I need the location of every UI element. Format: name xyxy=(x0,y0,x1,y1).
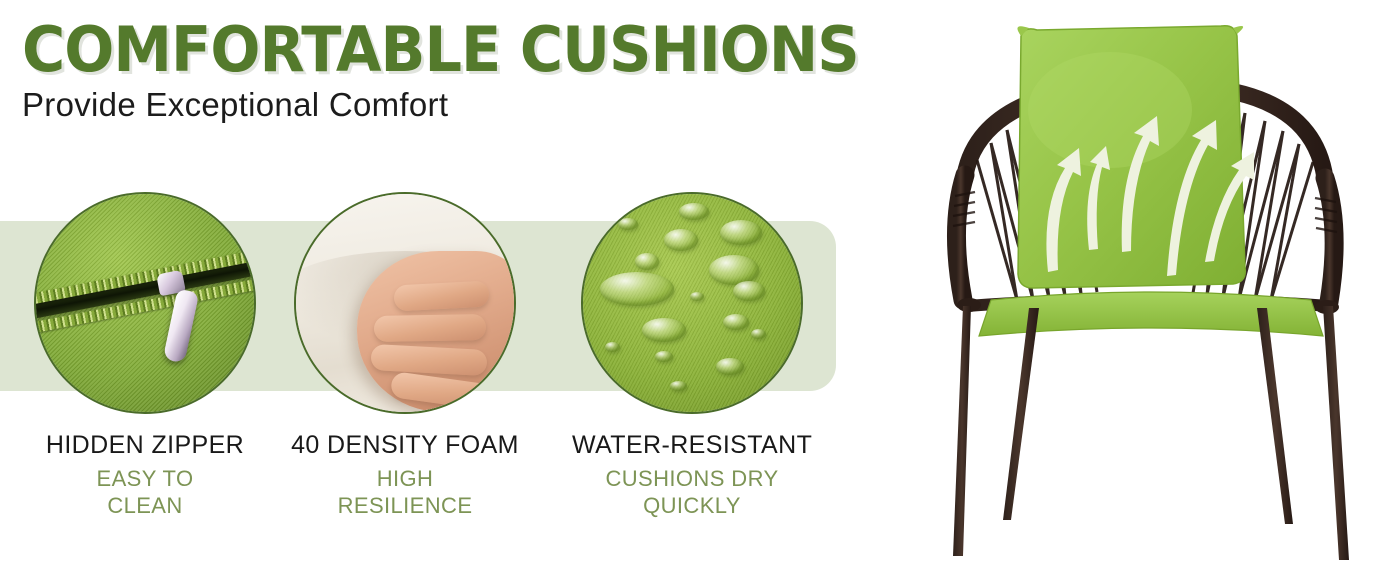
chair-leg-back-right xyxy=(1257,308,1293,524)
finger xyxy=(394,280,490,311)
product-image-chair xyxy=(905,0,1400,574)
feature-water-resistant: WATER-RESISTANT CUSHIONS DRY QUICKLY xyxy=(572,192,812,519)
feature-title: HIDDEN ZIPPER xyxy=(25,430,265,460)
water-droplet xyxy=(618,218,638,230)
chair-armrest-right xyxy=(1325,178,1334,302)
feature-subtitle-line2: QUICKLY xyxy=(572,492,812,519)
zipper-closeup-image xyxy=(34,192,256,414)
chair-leg-front-right xyxy=(1323,306,1349,560)
water-droplet xyxy=(690,292,704,301)
product-feature-banner: COMFORTABLE CUSHIONS Provide Exceptional… xyxy=(0,0,1400,574)
feature-subtitle-line2: CLEAN xyxy=(25,492,265,519)
feature-density-foam: 40 DENSITY FOAM HIGH RESILIENCE xyxy=(285,192,525,519)
feature-subtitle: EASY TO CLEAN xyxy=(25,465,265,519)
water-droplet xyxy=(655,351,673,362)
water-droplets-image xyxy=(581,192,803,414)
hand-pressing-foam-image xyxy=(294,192,516,414)
water-droplet xyxy=(679,203,709,220)
feature-subtitle-line1: HIGH xyxy=(285,465,525,492)
feature-subtitle-line1: CUSHIONS DRY xyxy=(572,465,812,492)
feature-hidden-zipper: HIDDEN ZIPPER EASY TO CLEAN xyxy=(25,192,265,519)
hand-shape xyxy=(357,251,516,412)
feature-subtitle: HIGH RESILIENCE xyxy=(285,465,525,519)
feature-subtitle-line1: EASY TO xyxy=(25,465,265,492)
feature-subtitle: CUSHIONS DRY QUICKLY xyxy=(572,465,812,519)
water-droplet xyxy=(716,358,744,375)
finger xyxy=(370,344,487,376)
feature-subtitle-line2: RESILIENCE xyxy=(285,492,525,519)
water-droplet xyxy=(664,229,698,251)
page-title: COMFORTABLE CUSHIONS xyxy=(22,18,859,82)
water-droplet xyxy=(635,253,659,270)
chair-leg-front-left xyxy=(953,306,971,556)
water-droplet xyxy=(751,329,766,339)
cushion-highlight xyxy=(1028,52,1192,168)
finger xyxy=(374,314,487,342)
water-droplet xyxy=(642,318,686,342)
feature-title: WATER-RESISTANT xyxy=(572,430,812,460)
feature-title: 40 DENSITY FOAM xyxy=(285,430,525,460)
page-subtitle: Provide Exceptional Comfort xyxy=(22,86,448,124)
water-droplet xyxy=(723,314,749,330)
chair-leg-back-left xyxy=(1003,308,1039,520)
